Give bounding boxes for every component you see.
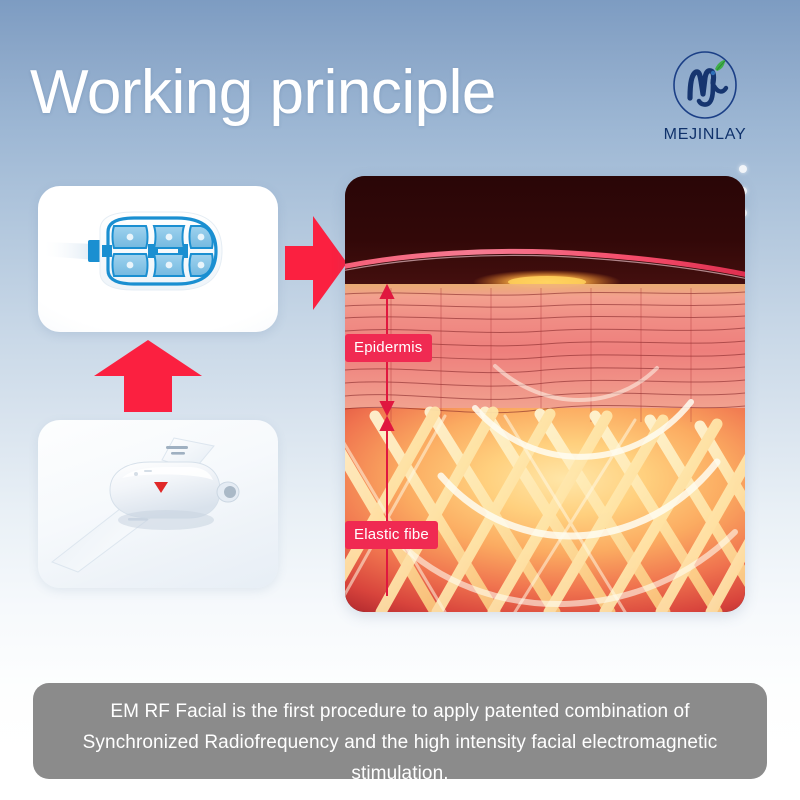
caption-text: EM RF Facial is the first procedure to a… xyxy=(33,683,767,779)
applicator-pad-panel xyxy=(38,186,278,332)
decorative-dot xyxy=(739,165,747,173)
rf-applicator-pad-image xyxy=(38,186,278,332)
brand-logo: MEJINLAY xyxy=(655,48,755,144)
page-title: Working principle xyxy=(30,62,496,124)
rf-handpiece-device-image xyxy=(38,420,278,588)
brand-name-label: MEJINLAY xyxy=(655,126,755,144)
mjl-circular-monogram-with-leaf-icon xyxy=(668,48,742,122)
arrow-right-icon xyxy=(283,214,349,312)
label-epidermis: Epidermis xyxy=(345,334,432,362)
handpiece-panel xyxy=(38,420,278,588)
dermis-elastic-fiber-layer xyxy=(345,408,745,612)
arrow-up-icon xyxy=(92,336,204,414)
skin-cross-section-illustration: Epidermis Elastic fibe xyxy=(345,176,745,612)
infographic-page: Working principle MEJINLAY xyxy=(0,0,800,800)
label-elastic-fibe: Elastic fibe xyxy=(345,521,438,549)
